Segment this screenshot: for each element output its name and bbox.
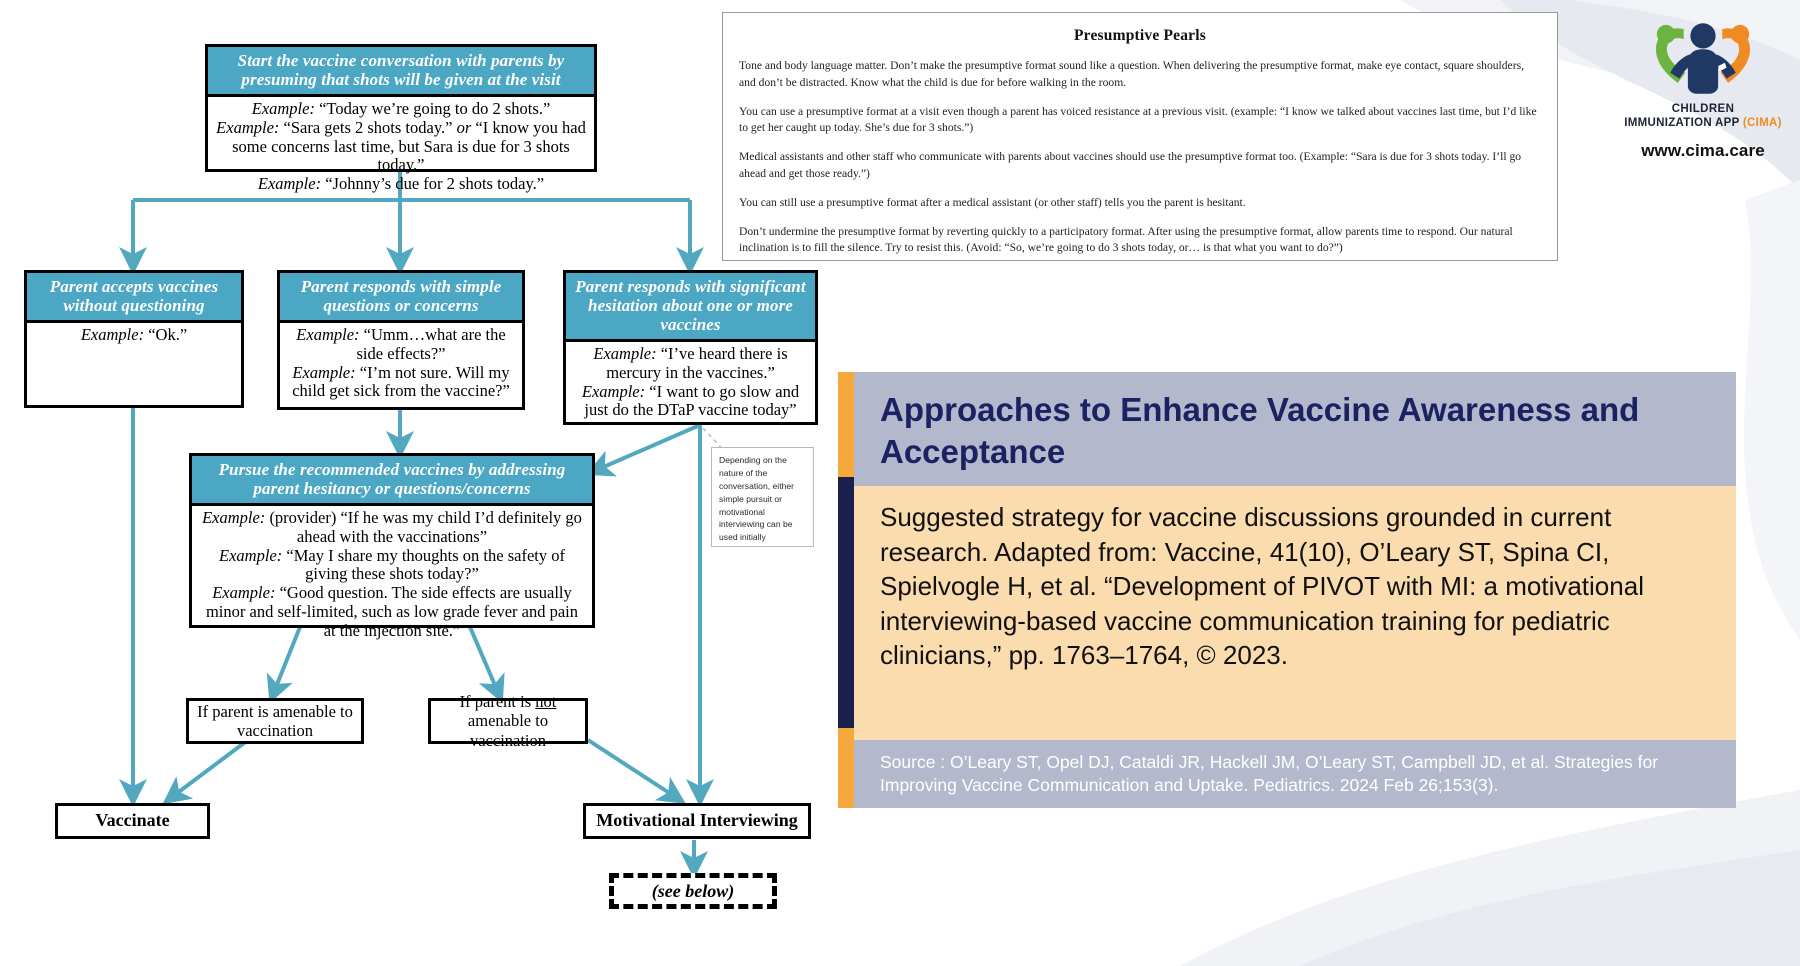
rail-segment-orange-top [838, 372, 854, 477]
flow-box-pursue-recommended-header: Pursue the recommended vaccines by addre… [192, 456, 592, 506]
flow-box-see-below-label: (see below) [652, 881, 734, 902]
example-line: Example: “Today we’re going to do 2 shot… [214, 100, 588, 119]
flow-box-start: Start the vaccine conversation with pare… [205, 44, 597, 172]
example-line: Example: “I want to go slow and just do … [572, 383, 809, 421]
flow-box-simple-questions-header: Parent responds with simple questions or… [280, 273, 522, 323]
flow-box-start-header: Start the vaccine conversation with pare… [208, 47, 594, 97]
logo-line-immunization-app: IMMUNIZATION APP (CIMA) [1612, 117, 1794, 129]
logo-line-children: CHILDREN [1612, 103, 1794, 115]
example-line: Example: “I’m not sure. Will my child ge… [286, 364, 516, 402]
flow-box-motivational-interviewing: Motivational Interviewing [583, 803, 811, 839]
flow-box-see-below: (see below) [609, 873, 777, 909]
example-line: Example: (provider) “If he was my child … [198, 509, 586, 547]
example-line: Example: “I’ve heard there is mercury in… [572, 345, 809, 383]
approaches-title: Approaches to Enhance Vaccine Awareness … [854, 372, 1736, 486]
presumptive-pearls-panel: Presumptive Pearls Tone and body languag… [722, 12, 1558, 261]
flow-box-motivational-interviewing-label: Motivational Interviewing [596, 810, 797, 831]
side-note-initial-approach: Depending on the nature of the conversat… [711, 447, 814, 547]
flow-box-simple-questions-body: Example: “Umm…what are the side effects?… [280, 323, 522, 406]
example-line: Example: “May I share my thoughts on the… [198, 547, 586, 585]
approaches-body: Approaches to Enhance Vaccine Awareness … [854, 372, 1736, 808]
flow-box-vaccinate: Vaccinate [55, 803, 210, 839]
example-line: Example: “Ok.” [33, 326, 235, 345]
flow-box-amenable-label: If parent is amenable to vaccination [194, 702, 356, 741]
pearls-paragraph: Tone and body language matter. Don’t mak… [739, 58, 1541, 92]
pearls-paragraph: You can still use a presumptive format a… [739, 195, 1541, 212]
pearls-paragraph: Medical assistants and other staff who c… [739, 149, 1541, 183]
approaches-source-citation: Source : O’Leary ST, Opel DJ, Cataldi JR… [854, 740, 1736, 808]
flow-box-not-amenable: If parent is not amenable to vaccination [428, 698, 588, 744]
example-line: Example: “Umm…what are the side effects?… [286, 326, 516, 364]
cima-logo-icon [1644, 14, 1762, 98]
flow-box-significant-hesitation: Parent responds with significant hesitat… [563, 270, 818, 425]
pearls-paragraph: You can use a presumptive format at a vi… [739, 104, 1541, 138]
approaches-panel: Approaches to Enhance Vaccine Awareness … [838, 372, 1736, 808]
flow-box-parent-accepts-header: Parent accepts vaccines without question… [27, 273, 241, 323]
example-line: Example: “Good question. The side effect… [198, 584, 586, 640]
example-line: Example: “Sara gets 2 shots today.” or “… [214, 119, 588, 175]
logo-website-url: www.cima.care [1612, 141, 1794, 161]
flow-box-vaccinate-label: Vaccinate [95, 810, 169, 831]
flow-box-pursue-recommended: Pursue the recommended vaccines by addre… [189, 453, 595, 628]
flow-box-significant-hesitation-body: Example: “I’ve heard there is mercury in… [566, 342, 815, 425]
flow-box-not-amenable-label: If parent is not amenable to vaccination [436, 692, 580, 750]
approaches-side-rail [838, 372, 854, 808]
rail-segment-navy [838, 477, 854, 728]
presumptive-pearls-title: Presumptive Pearls [739, 27, 1541, 45]
flow-box-pursue-recommended-body: Example: (provider) “If he was my child … [192, 506, 592, 646]
pearls-paragraph: Don’t undermine the presumptive format b… [739, 224, 1541, 258]
example-line: Example: “Johnny’s due for 2 shots today… [214, 175, 588, 194]
rail-segment-orange-bottom [838, 728, 854, 808]
cima-logo-block: CHILDREN IMMUNIZATION APP (CIMA) www.cim… [1612, 14, 1794, 174]
flow-box-significant-hesitation-header: Parent responds with significant hesitat… [566, 273, 815, 342]
flow-box-parent-accepts-body: Example: “Ok.” [27, 323, 241, 350]
flow-box-simple-questions: Parent responds with simple questions or… [277, 270, 525, 410]
approaches-description: Suggested strategy for vaccine discussio… [854, 486, 1736, 740]
logo-cima-accent: (CIMA) [1743, 117, 1782, 129]
flow-box-parent-accepts: Parent accepts vaccines without question… [24, 270, 244, 408]
flow-box-amenable: If parent is amenable to vaccination [186, 698, 364, 744]
flow-box-start-body: Example: “Today we’re going to do 2 shot… [208, 97, 594, 199]
